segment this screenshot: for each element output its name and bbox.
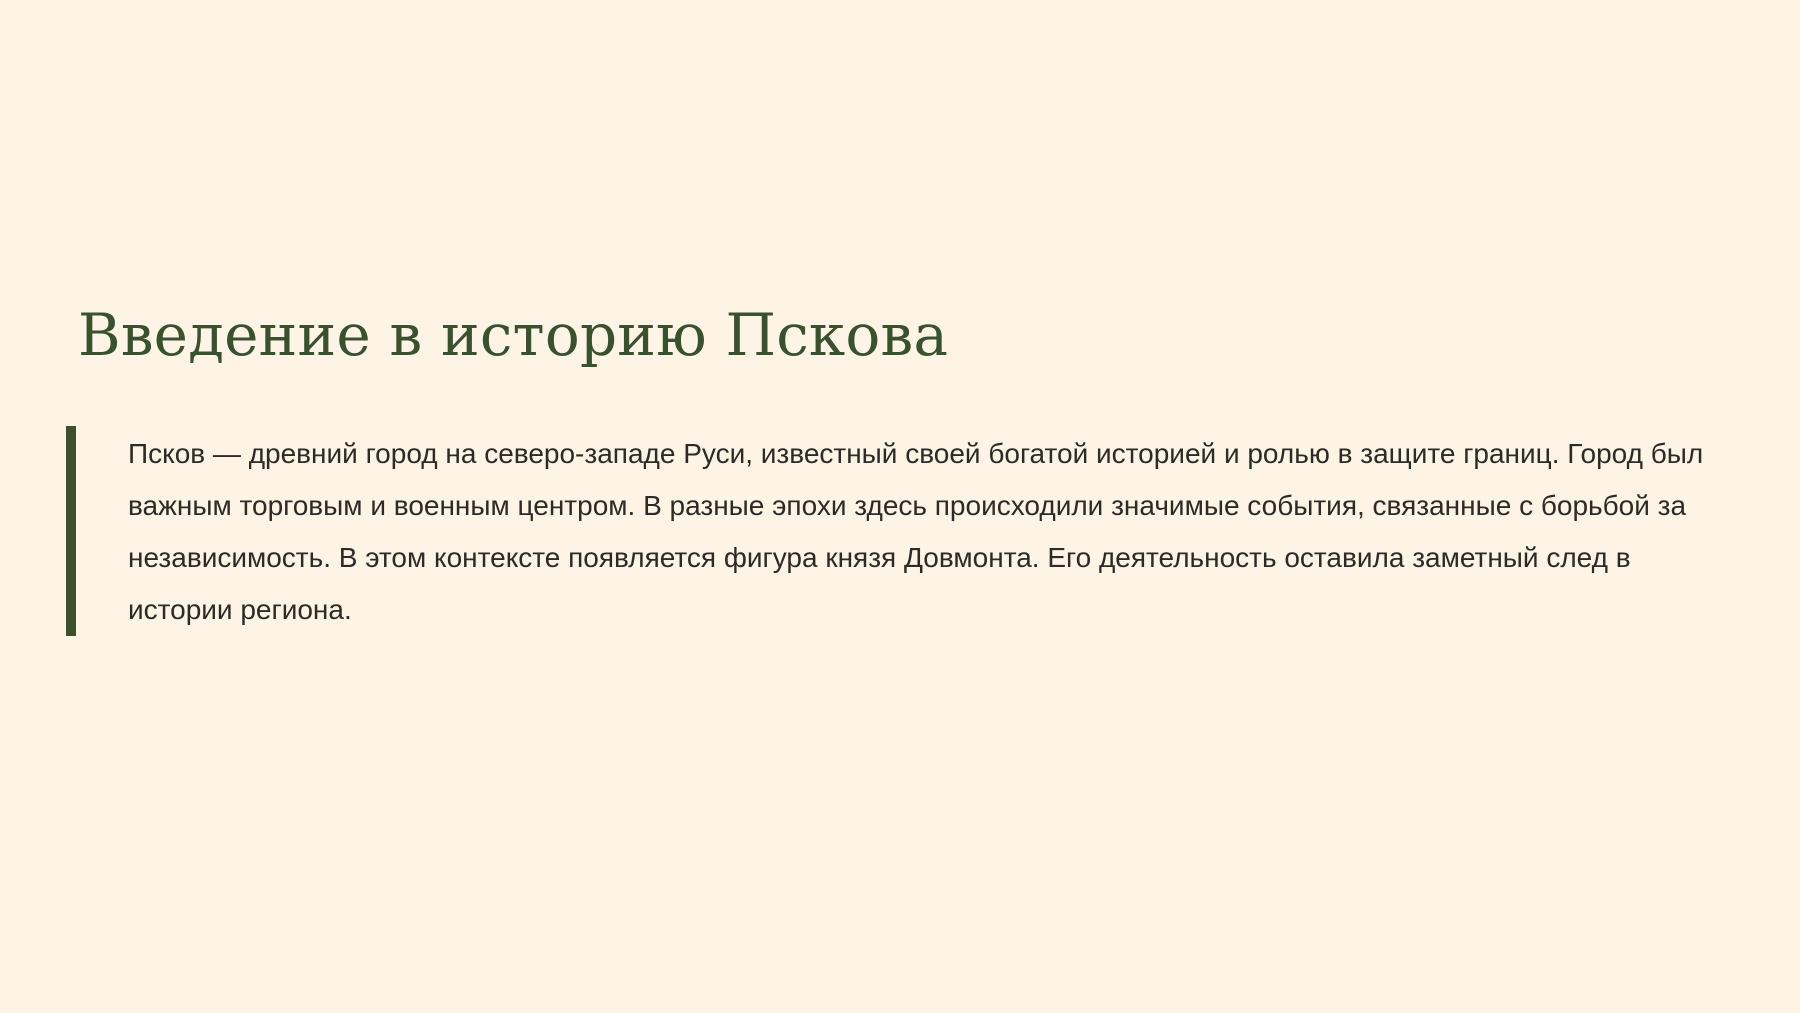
accent-bar — [66, 426, 76, 636]
callout-block: Псков — древний город на северо-западе Р… — [66, 426, 1746, 636]
intro-section: Введение в историю Пскова Псков — древни… — [66, 300, 1746, 636]
document-page: Введение в историю Пскова Псков — древни… — [0, 0, 1800, 1013]
page-title: Введение в историю Пскова — [78, 300, 1746, 371]
intro-paragraph: Псков — древний город на северо-западе Р… — [128, 428, 1728, 636]
callout-body: Псков — древний город на северо-западе Р… — [76, 426, 1746, 636]
